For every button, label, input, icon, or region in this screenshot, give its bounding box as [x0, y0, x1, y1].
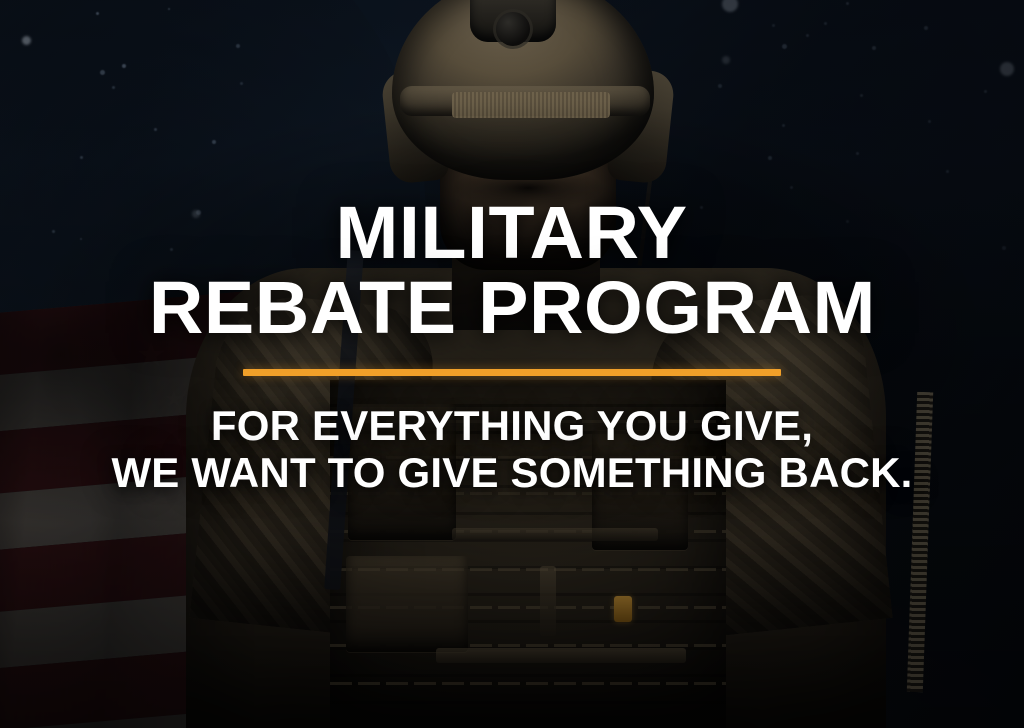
banner-content: MILITARY REBATE PROGRAM FOR EVERYTHING Y… — [0, 0, 1024, 728]
orange-divider-rule — [243, 369, 781, 376]
military-rebate-banner: ★ ★ ★ ★ ★ — [0, 0, 1024, 728]
subheadline-line-2: WE WANT TO GIVE SOMETHING BACK. — [111, 449, 912, 497]
subheadline-line-1: FOR EVERYTHING YOU GIVE, — [211, 402, 813, 449]
headline-line-1: MILITARY — [336, 196, 688, 269]
headline-line-2: REBATE PROGRAM — [148, 271, 875, 344]
subheadline: FOR EVERYTHING YOU GIVE, WE WANT TO GIVE… — [111, 402, 912, 498]
